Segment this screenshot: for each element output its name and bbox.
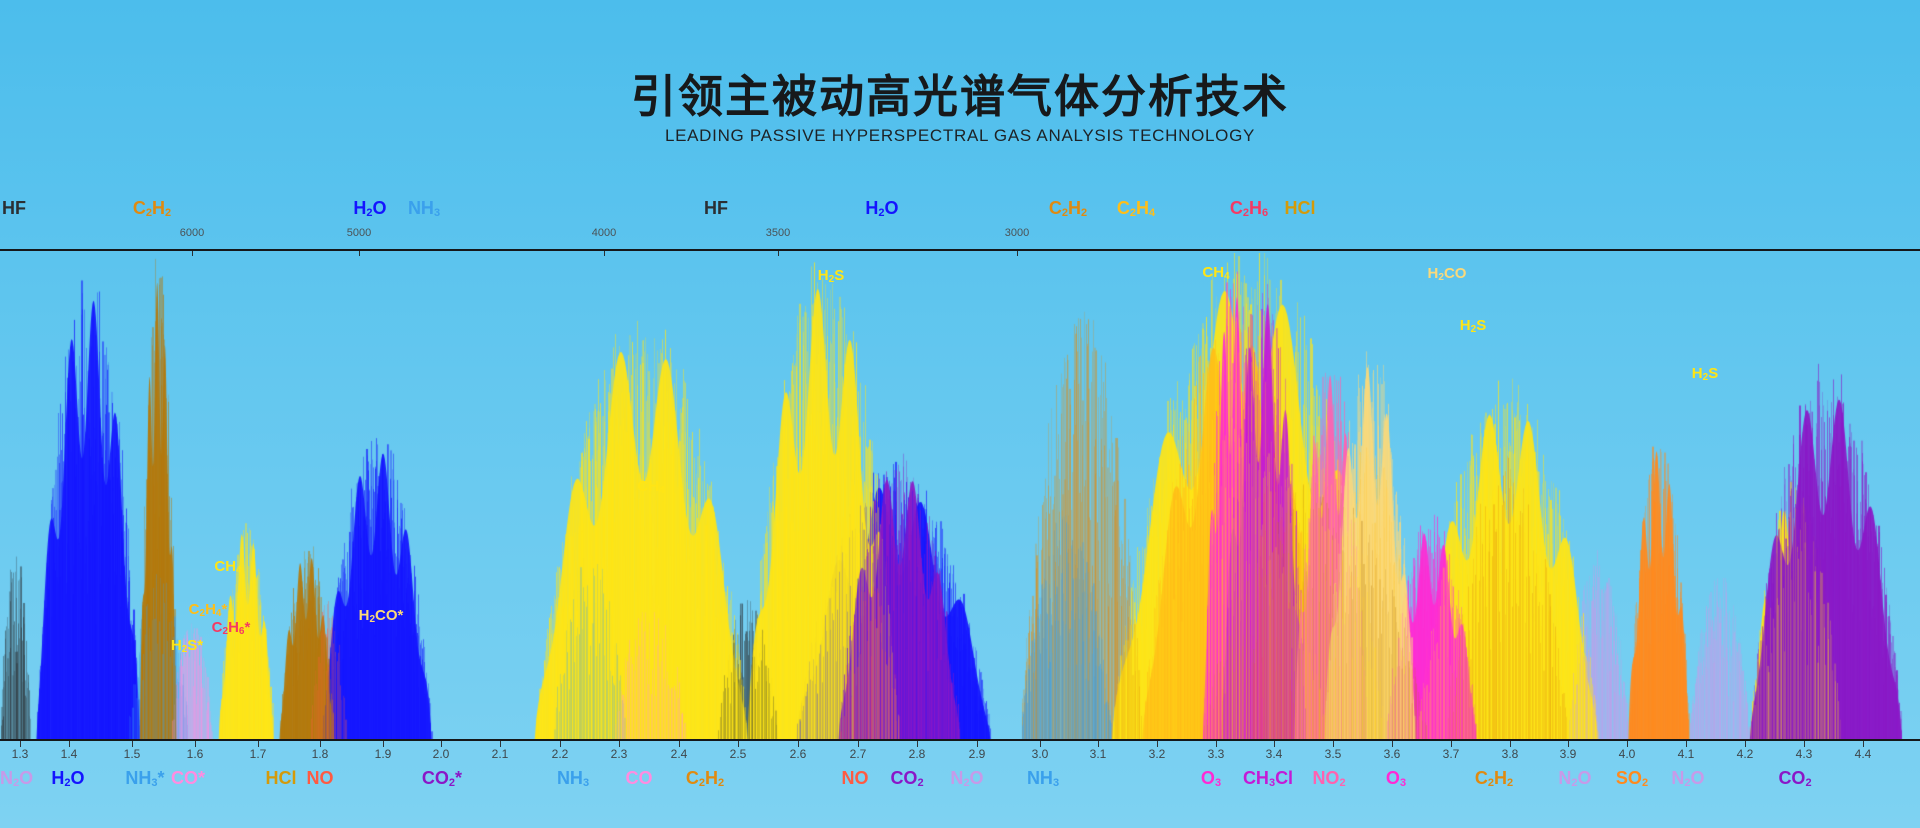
in-plot-gas-label: H2S [1692, 365, 1718, 383]
bottom-axis-tick-label: 3.0 [1032, 747, 1049, 761]
bottom-axis-tick-label: 3.7 [1443, 747, 1460, 761]
in-plot-gas-label: C2H6* [212, 619, 251, 637]
bottom-gas-label: NH3* [125, 768, 164, 789]
top-gas-label: HCl [1285, 198, 1316, 219]
bottom-axis-tick-label: 3.9 [1560, 747, 1577, 761]
in-plot-gas-label: CH4 [1202, 264, 1229, 282]
bottom-gas-label: NO [842, 768, 869, 789]
bottom-axis-tick-label: 3.1 [1090, 747, 1107, 761]
bottom-axis-tick-label: 2.6 [790, 747, 807, 761]
top-gas-label: C2H2 [1049, 198, 1087, 219]
top-axis-tick-label: 3000 [1005, 227, 1029, 239]
bottom-gas-label: NO [307, 768, 334, 789]
bottom-gas-label: NO2 [1312, 768, 1345, 789]
bottom-axis-tick-label: 3.5 [1325, 747, 1342, 761]
bottom-axis-tick-label: 1.8 [312, 747, 329, 761]
bottom-axis-tick-label: 3.3 [1208, 747, 1225, 761]
bottom-gas-label: N2O [0, 768, 33, 789]
bottom-gas-label: C2H2 [686, 768, 724, 789]
bottom-gas-label: CO2 [890, 768, 923, 789]
bottom-axis-tick-label: 2.5 [730, 747, 747, 761]
bottom-axis-tick-label: 4.4 [1855, 747, 1872, 761]
bottom-axis-tick-label: 1.9 [375, 747, 392, 761]
bottom-axis-tick-label: 4.0 [1619, 747, 1636, 761]
bottom-gas-label: NH3 [1027, 768, 1059, 789]
bottom-gas-label: SO2 [1616, 768, 1648, 789]
bottom-axis-tick-label: 4.1 [1678, 747, 1695, 761]
spectrum-canvas [0, 253, 1920, 739]
bottom-axis-tick-label: 1.7 [250, 747, 267, 761]
bottom-axis-tick-label: 2.0 [433, 747, 450, 761]
bottom-gas-label: HCl [266, 768, 297, 789]
top-gas-label: C2H4 [1117, 198, 1155, 219]
page-header: 引领主被动高光谱气体分析技术 LEADING PASSIVE HYPERSPEC… [0, 0, 1920, 196]
top-gas-label: H2O [865, 198, 898, 219]
bottom-axis-line [0, 739, 1920, 741]
bottom-gas-label: H2O [51, 768, 84, 789]
bottom-axis-tick-label: 2.8 [909, 747, 926, 761]
top-gas-label: HF [704, 198, 728, 219]
bottom-axis-tick-label: 2.9 [969, 747, 986, 761]
spectrum-plot: H2SCH4H2COH2SH2SCH4C2H4*C2H6*H2S*H2CO*CH… [0, 253, 1920, 739]
bottom-axis-tick-label: 3.6 [1384, 747, 1401, 761]
top-axis-tick-label: 3500 [766, 227, 790, 239]
bottom-axis-tick-label: 4.3 [1796, 747, 1813, 761]
in-plot-gas-label: C2H4* [189, 601, 228, 619]
bottom-gas-label: N2O [950, 768, 983, 789]
bottom-gas-label: C2H2 [1475, 768, 1513, 789]
top-axis-tick-label: 4000 [592, 227, 616, 239]
top-gas-label: C2H2 [133, 198, 171, 219]
in-plot-gas-label: H2S [1460, 317, 1486, 335]
top-gas-label: H2O [353, 198, 386, 219]
in-plot-gas-label: CH4 [214, 558, 241, 576]
top-gas-label: NH3 [408, 198, 440, 219]
top-gas-label: C2H6 [1230, 198, 1268, 219]
bottom-axis-tick-label: 1.3 [12, 747, 29, 761]
top-gas-label: HF [2, 198, 26, 219]
top-axis-line [0, 249, 1920, 251]
bottom-gas-label: N2O [1671, 768, 1704, 789]
bottom-axis-tick-label: 2.1 [492, 747, 509, 761]
bottom-axis-tick-label: 2.7 [850, 747, 867, 761]
top-axis-tick-label: 5000 [347, 227, 371, 239]
bottom-axis-tick-label: 4.2 [1737, 747, 1754, 761]
bottom-axis-tick-label: 2.3 [611, 747, 628, 761]
in-plot-gas-label: H2S [818, 267, 844, 285]
bottom-gas-label: CO* [171, 768, 205, 789]
page-subtitle: LEADING PASSIVE HYPERSPECTRAL GAS ANALYS… [0, 126, 1920, 146]
page-title: 引领主被动高光谱气体分析技术 [0, 60, 1920, 125]
bottom-gas-label: CO [626, 768, 653, 789]
bottom-axis-tick-label: 3.2 [1149, 747, 1166, 761]
bottom-gas-label: O3 [1201, 768, 1221, 789]
top-axis-tick-label: 6000 [180, 227, 204, 239]
bottom-gas-label: O3 [1386, 768, 1406, 789]
in-plot-gas-label: H2CO* [359, 607, 404, 625]
bottom-gas-label: NH3 [557, 768, 589, 789]
bottom-axis-tick-label: 2.4 [671, 747, 688, 761]
bottom-axis-tick-label: 2.2 [552, 747, 569, 761]
bottom-gas-label: N2O [1558, 768, 1591, 789]
bottom-axis-tick-label: 1.6 [187, 747, 204, 761]
in-plot-gas-label: H2S* [171, 637, 203, 655]
bottom-gas-label: CH3Cl [1243, 768, 1293, 789]
bottom-gas-label: CO2* [422, 768, 462, 789]
bottom-axis-tick-label: 3.8 [1502, 747, 1519, 761]
bottom-axis-tick-label: 1.5 [124, 747, 141, 761]
bottom-gas-label: CO2 [1778, 768, 1811, 789]
in-plot-gas-label: CH4 [637, 478, 664, 496]
bottom-axis-tick-label: 1.4 [61, 747, 78, 761]
bottom-axis-tick-label: 3.4 [1266, 747, 1283, 761]
in-plot-gas-label: H2CO [1428, 265, 1467, 283]
